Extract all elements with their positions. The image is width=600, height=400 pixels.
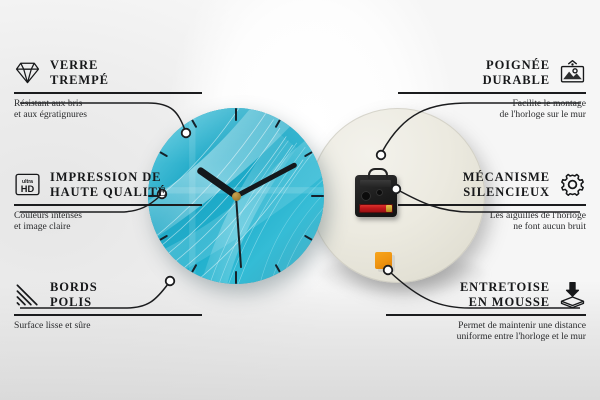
picture-hanger-icon (559, 59, 586, 86)
mechanism-top-slot (360, 180, 391, 187)
callout-title: BORDS POLIS (50, 280, 98, 309)
infographic-canvas: VERRE TREMPÉ Résistant aux bris et aux é… (0, 0, 600, 400)
callout-polished-edges: BORDS POLIS Surface lisse et sûre (14, 280, 202, 331)
callout-tempered-glass: VERRE TREMPÉ Résistant aux bris et aux é… (14, 58, 202, 120)
callout-subtitle: Facilite le montage de l'horloge sur le … (398, 98, 586, 121)
svg-text:HD: HD (21, 184, 35, 194)
callout-title: POIGNÉE DURABLE (483, 58, 550, 87)
callout-subtitle: Surface lisse et sûre (14, 320, 202, 331)
callout-title: IMPRESSION DE HAUTE QUALITÉ (50, 170, 167, 199)
callout-divider (14, 204, 202, 206)
callout-divider (398, 204, 586, 206)
callout-divider (386, 314, 586, 316)
clock-center-cap (232, 192, 241, 201)
callout-subtitle: Permet de maintenir une distance uniform… (386, 320, 586, 343)
callout-divider (398, 92, 586, 94)
ultra-hd-icon: ultra HD (14, 171, 41, 198)
callout-subtitle: Les aiguilles de l'horloge ne font aucun… (398, 210, 586, 233)
callout-subtitle: Résistant aux bris et aux égratignures (14, 98, 202, 121)
callout-divider (14, 314, 202, 316)
clock-tick (236, 195, 324, 197)
diamond-icon (14, 59, 41, 86)
mechanism-dial-small (376, 189, 383, 196)
gear-icon (559, 171, 586, 198)
callout-silent-mechanism: MÉCANISME SILENCIEUX Les aiguilles de l'… (398, 170, 586, 232)
callout-foam-spacer: ENTRETOISE EN MOUSSE Permet de maintenir… (386, 280, 586, 342)
callout-title: VERRE TREMPÉ (50, 58, 109, 87)
polished-edge-icon (14, 281, 41, 308)
callout-title: MÉCANISME SILENCIEUX (463, 170, 550, 199)
clock-mechanism (355, 175, 397, 217)
clock-tick (235, 108, 237, 196)
press-down-icon (559, 281, 586, 308)
callout-subtitle: Couleurs intenses et image claire (14, 210, 202, 233)
callout-print-quality: ultra HD IMPRESSION DE HAUTE QUALITÉ Cou… (14, 170, 202, 232)
hanger-loop-icon (368, 168, 388, 179)
callout-title: ENTRETOISE EN MOUSSE (460, 280, 550, 309)
battery-terminal (386, 205, 392, 212)
foam-spacer-pad (375, 252, 392, 269)
callout-durable-handle: POIGNÉE DURABLE Facilite le montage de l… (398, 58, 586, 120)
callout-divider (14, 92, 202, 94)
aa-battery (359, 204, 393, 213)
mechanism-dial-large (361, 191, 371, 201)
